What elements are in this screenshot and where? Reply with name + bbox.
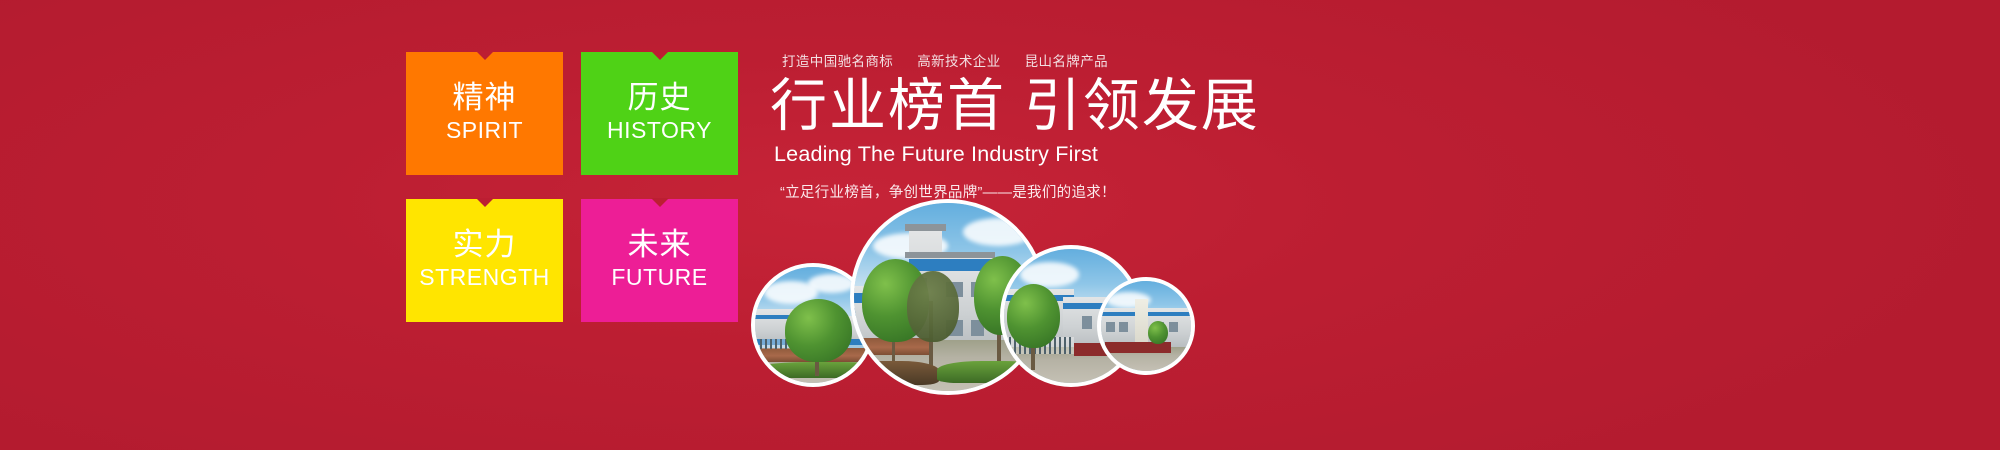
cloud-icon [1020,262,1079,286]
tile-future-label-en: FUTURE [611,263,707,292]
tile-spirit-surface: 精神 SPIRIT [406,52,563,175]
headline-copy-block: 打造中国驰名商标 高新技术企业 昆山名牌产品 行业榜首 引领发展 Leading… [770,50,1190,202]
tile-notch-icon [651,51,669,60]
tile-strength-label-cn: 实力 [453,229,517,262]
tile-spirit-label-en: SPIRIT [446,116,523,145]
tree [907,271,960,342]
window [1169,322,1178,332]
company-signboard [1105,342,1172,353]
tile-notch-icon [476,51,494,60]
hedge [850,361,939,385]
tile-history-label-en: HISTORY [607,116,712,145]
photo-bubble-far-right [1097,277,1195,375]
tile-strength-label-en: STRENGTH [419,263,550,292]
promo-banner: 精神 SPIRIT 历史 HISTORY 实力 STRENGTH 未来 FUTU… [0,0,2000,450]
tree [785,299,852,362]
tile-strength[interactable]: 实力 STRENGTH [406,199,563,322]
window [1106,322,1115,332]
tile-history[interactable]: 历史 HISTORY [581,52,738,175]
value-tile-grid: 精神 SPIRIT 历史 HISTORY 实力 STRENGTH 未来 FUTU… [406,52,738,322]
credential-row: 打造中国驰名商标 高新技术企业 昆山名牌产品 [770,50,1190,72]
tile-history-surface: 历史 HISTORY [581,52,738,175]
tile-history-label-cn: 历史 [628,82,692,115]
tile-notch-icon [476,198,494,207]
tile-spirit-label-cn: 精神 [453,82,517,115]
tile-notch-icon [651,198,669,207]
tile-future-label-cn: 未来 [628,229,692,262]
window [1082,316,1093,329]
tile-strength-surface: 实力 STRENGTH [406,199,563,322]
credential-item-2: 高新技术企业 [917,50,1000,70]
tile-spirit[interactable]: 精神 SPIRIT [406,52,563,175]
window [1119,322,1128,332]
credential-item-3: 昆山名牌产品 [1025,50,1108,70]
building-roof [905,224,946,232]
page-title: 行业榜首 引领发展 [770,76,1190,138]
factory-photo-collage [745,185,1175,450]
page-subtitle: Leading The Future Industry First [770,142,1190,167]
credential-item-1: 打造中国驰名商标 [782,50,893,70]
tree [1148,321,1168,344]
tree [1007,284,1061,348]
tile-future-surface: 未来 FUTURE [581,199,738,322]
tile-future[interactable]: 未来 FUTURE [581,199,738,322]
cloud-icon [808,274,854,293]
